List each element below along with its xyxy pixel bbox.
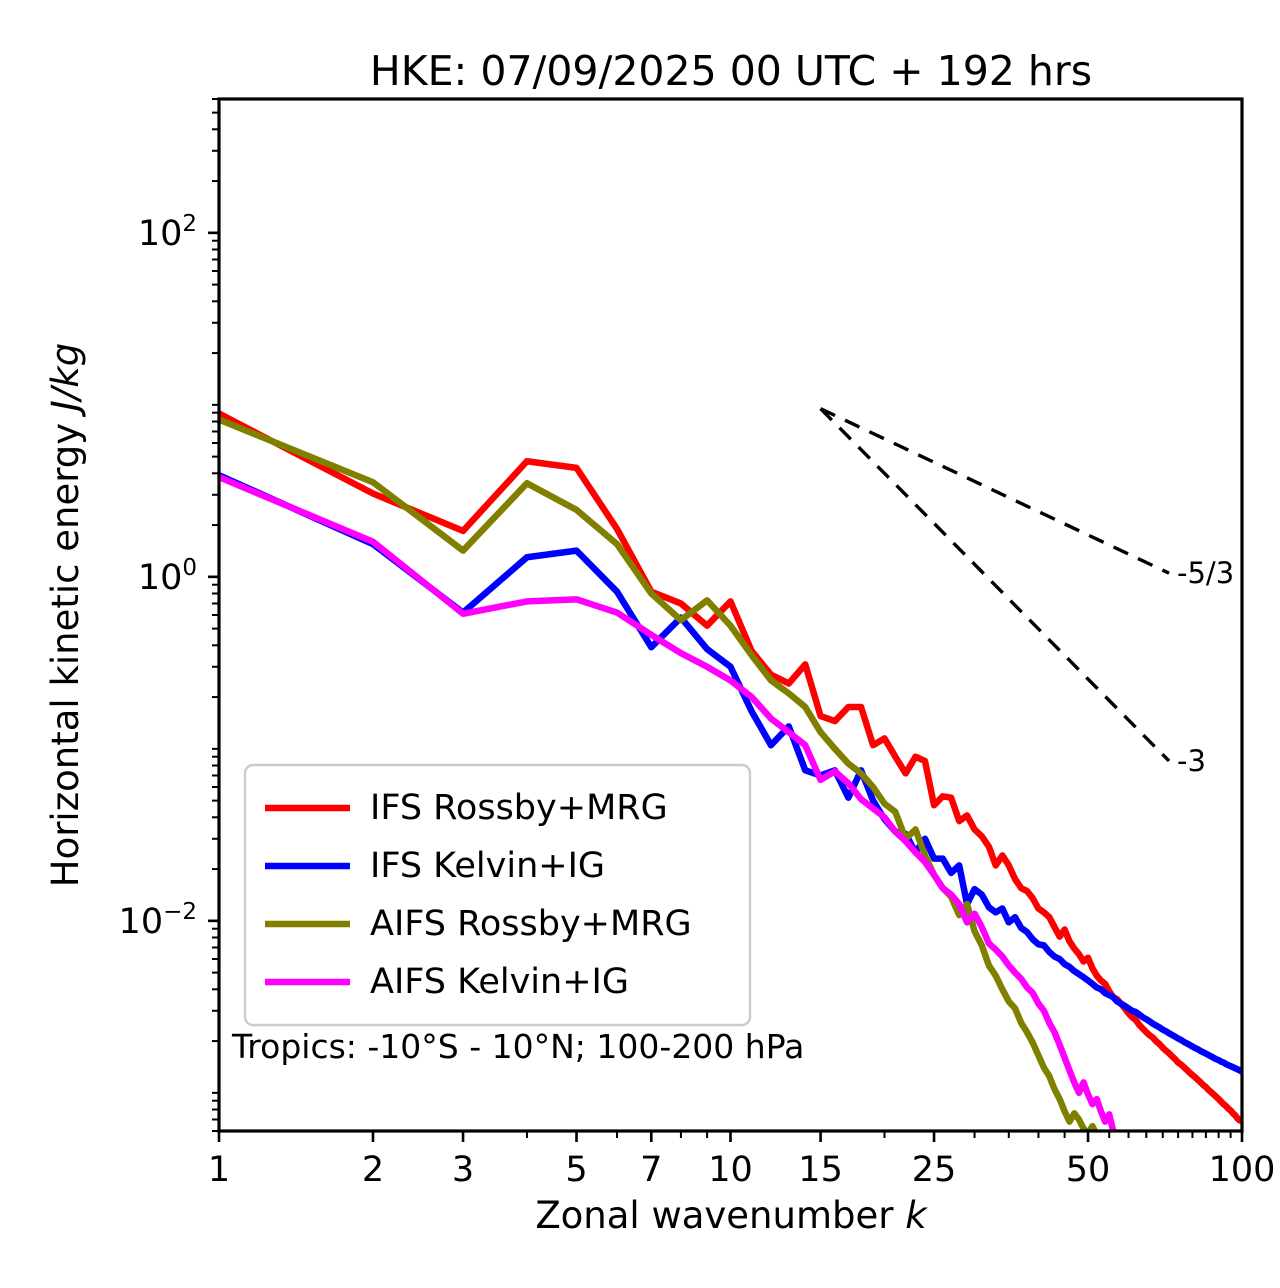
hke-spectrum-chart: HKE: 07/09/2025 00 UTC + 192 hrs Horizon… — [0, 0, 1280, 1288]
x-tick-label-25: 25 — [912, 1150, 957, 1190]
svg-text:Horizontal kinetic energy J/kg: Horizontal kinetic energy J/kg — [44, 343, 87, 887]
legend-label-2[interactable]: AIFS Rossby+MRG — [370, 904, 692, 944]
x-axis-label-main: Zonal wavenumber — [535, 1194, 905, 1237]
x-tick-label-3: 3 — [452, 1150, 474, 1190]
chart-legend[interactable]: IFS Rossby+MRGIFS Kelvin+IGAIFS Rossby+M… — [245, 765, 750, 1025]
region-annotation: Tropics: -10°S - 10°N; 100-200 hPa — [231, 1027, 804, 1066]
x-tick-label-100: 100 — [1209, 1150, 1276, 1190]
x-tick-label-2: 2 — [362, 1150, 384, 1190]
x-tick-label-15: 15 — [798, 1150, 843, 1190]
x-tick-label-1: 1 — [208, 1150, 230, 1190]
x-axis-label-symbol: k — [905, 1194, 928, 1237]
y-axis-label-units: J/kg — [44, 343, 87, 418]
y-axis-label: Horizontal kinetic energy J/kg — [44, 343, 87, 887]
legend-label-3[interactable]: AIFS Kelvin+IG — [370, 962, 629, 1002]
svg-text:Zonal wavenumber k: Zonal wavenumber k — [535, 1194, 928, 1237]
x-tick-label-10: 10 — [708, 1150, 753, 1190]
y-axis-label-main: Horizontal kinetic energy — [44, 411, 87, 887]
chart-title: HKE: 07/09/2025 00 UTC + 192 hrs — [370, 47, 1092, 95]
x-axis-label: Zonal wavenumber k — [535, 1194, 928, 1237]
figure-root: HKE: 07/09/2025 00 UTC + 192 hrs Horizon… — [0, 0, 1280, 1288]
x-tick-label-5: 5 — [565, 1150, 587, 1190]
reference-line-label-1: -3 — [1177, 744, 1206, 778]
x-tick-label-7: 7 — [640, 1150, 662, 1190]
legend-label-1[interactable]: IFS Kelvin+IG — [370, 846, 605, 886]
reference-line-label-0: -5/3 — [1177, 556, 1234, 590]
x-tick-label-50: 50 — [1066, 1150, 1111, 1190]
legend-label-0[interactable]: IFS Rossby+MRG — [370, 788, 668, 828]
